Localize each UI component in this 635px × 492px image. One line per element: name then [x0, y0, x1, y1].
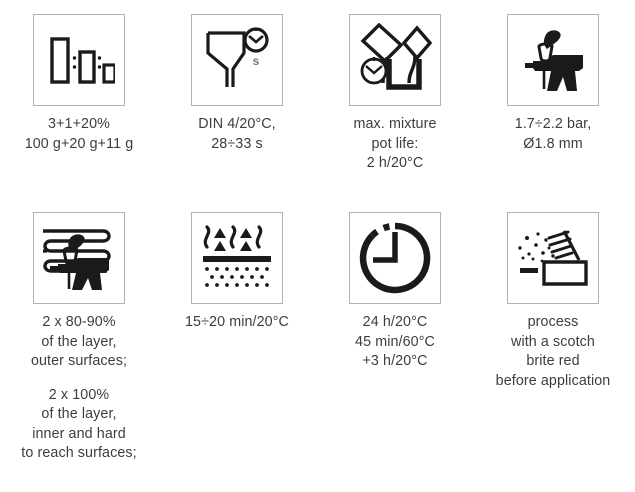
caption-pot-life: max. mixture pot life: 2 h/20°C — [353, 115, 436, 174]
cell-flash-off: 15÷20 min/20°C — [158, 196, 316, 464]
spray-gun-icon — [507, 14, 599, 106]
caption-viscosity: DIN 4/20°C, 28÷33 s — [198, 115, 276, 154]
cell-curing-time: 24 h/20°C 45 min/60°C +3 h/20°C — [316, 196, 474, 464]
cell-mixing-ratio: 3+1+20% 100 g+20 g+11 g — [0, 0, 158, 196]
curing-clock-icon — [349, 212, 441, 304]
din-cup-seconds-label: s — [253, 54, 260, 68]
caption-flash-off: 15÷20 min/20°C — [185, 313, 289, 333]
caption-curing-time: 24 h/20°C 45 min/60°C +3 h/20°C — [355, 313, 435, 372]
caption-application-coats: 2 x 80-90% of the layer, outer surfaces; — [31, 313, 127, 372]
spray-gun-passes-icon — [33, 212, 125, 304]
cell-pot-life: max. mixture pot life: 2 h/20°C — [316, 0, 474, 196]
cell-surface-preparation: process with a scotch brite red before a… — [474, 196, 632, 464]
cell-viscosity: s DIN 4/20°C, 28÷33 s — [158, 0, 316, 196]
caption-mixing-ratio: 3+1+20% 100 g+20 g+11 g — [25, 115, 134, 154]
caption-spray-settings: 1.7÷2.2 bar, Ø1.8 mm — [515, 115, 592, 154]
mixing-ratio-bars-icon — [33, 14, 125, 106]
flash-off-evaporation-icon — [191, 212, 283, 304]
caption-application-coats-secondary: 2 x 100% of the layer, inner and hard to… — [21, 386, 136, 464]
cell-application-coats: 2 x 80-90% of the layer, outer surfaces;… — [0, 196, 158, 464]
cell-spray-settings: 1.7÷2.2 bar, Ø1.8 mm — [474, 0, 632, 196]
pictogram-specification-sheet: 3+1+20% 100 g+20 g+11 g s DIN 4/20°C, 28… — [0, 0, 635, 492]
caption-surface-preparation: process with a scotch brite red before a… — [496, 313, 611, 391]
sanding-abrasion-icon — [507, 212, 599, 304]
pictogram-grid: 3+1+20% 100 g+20 g+11 g s DIN 4/20°C, 28… — [0, 0, 635, 464]
pot-life-pouring-clock-icon — [349, 14, 441, 106]
din-flow-cup-clock-icon: s — [191, 14, 283, 106]
